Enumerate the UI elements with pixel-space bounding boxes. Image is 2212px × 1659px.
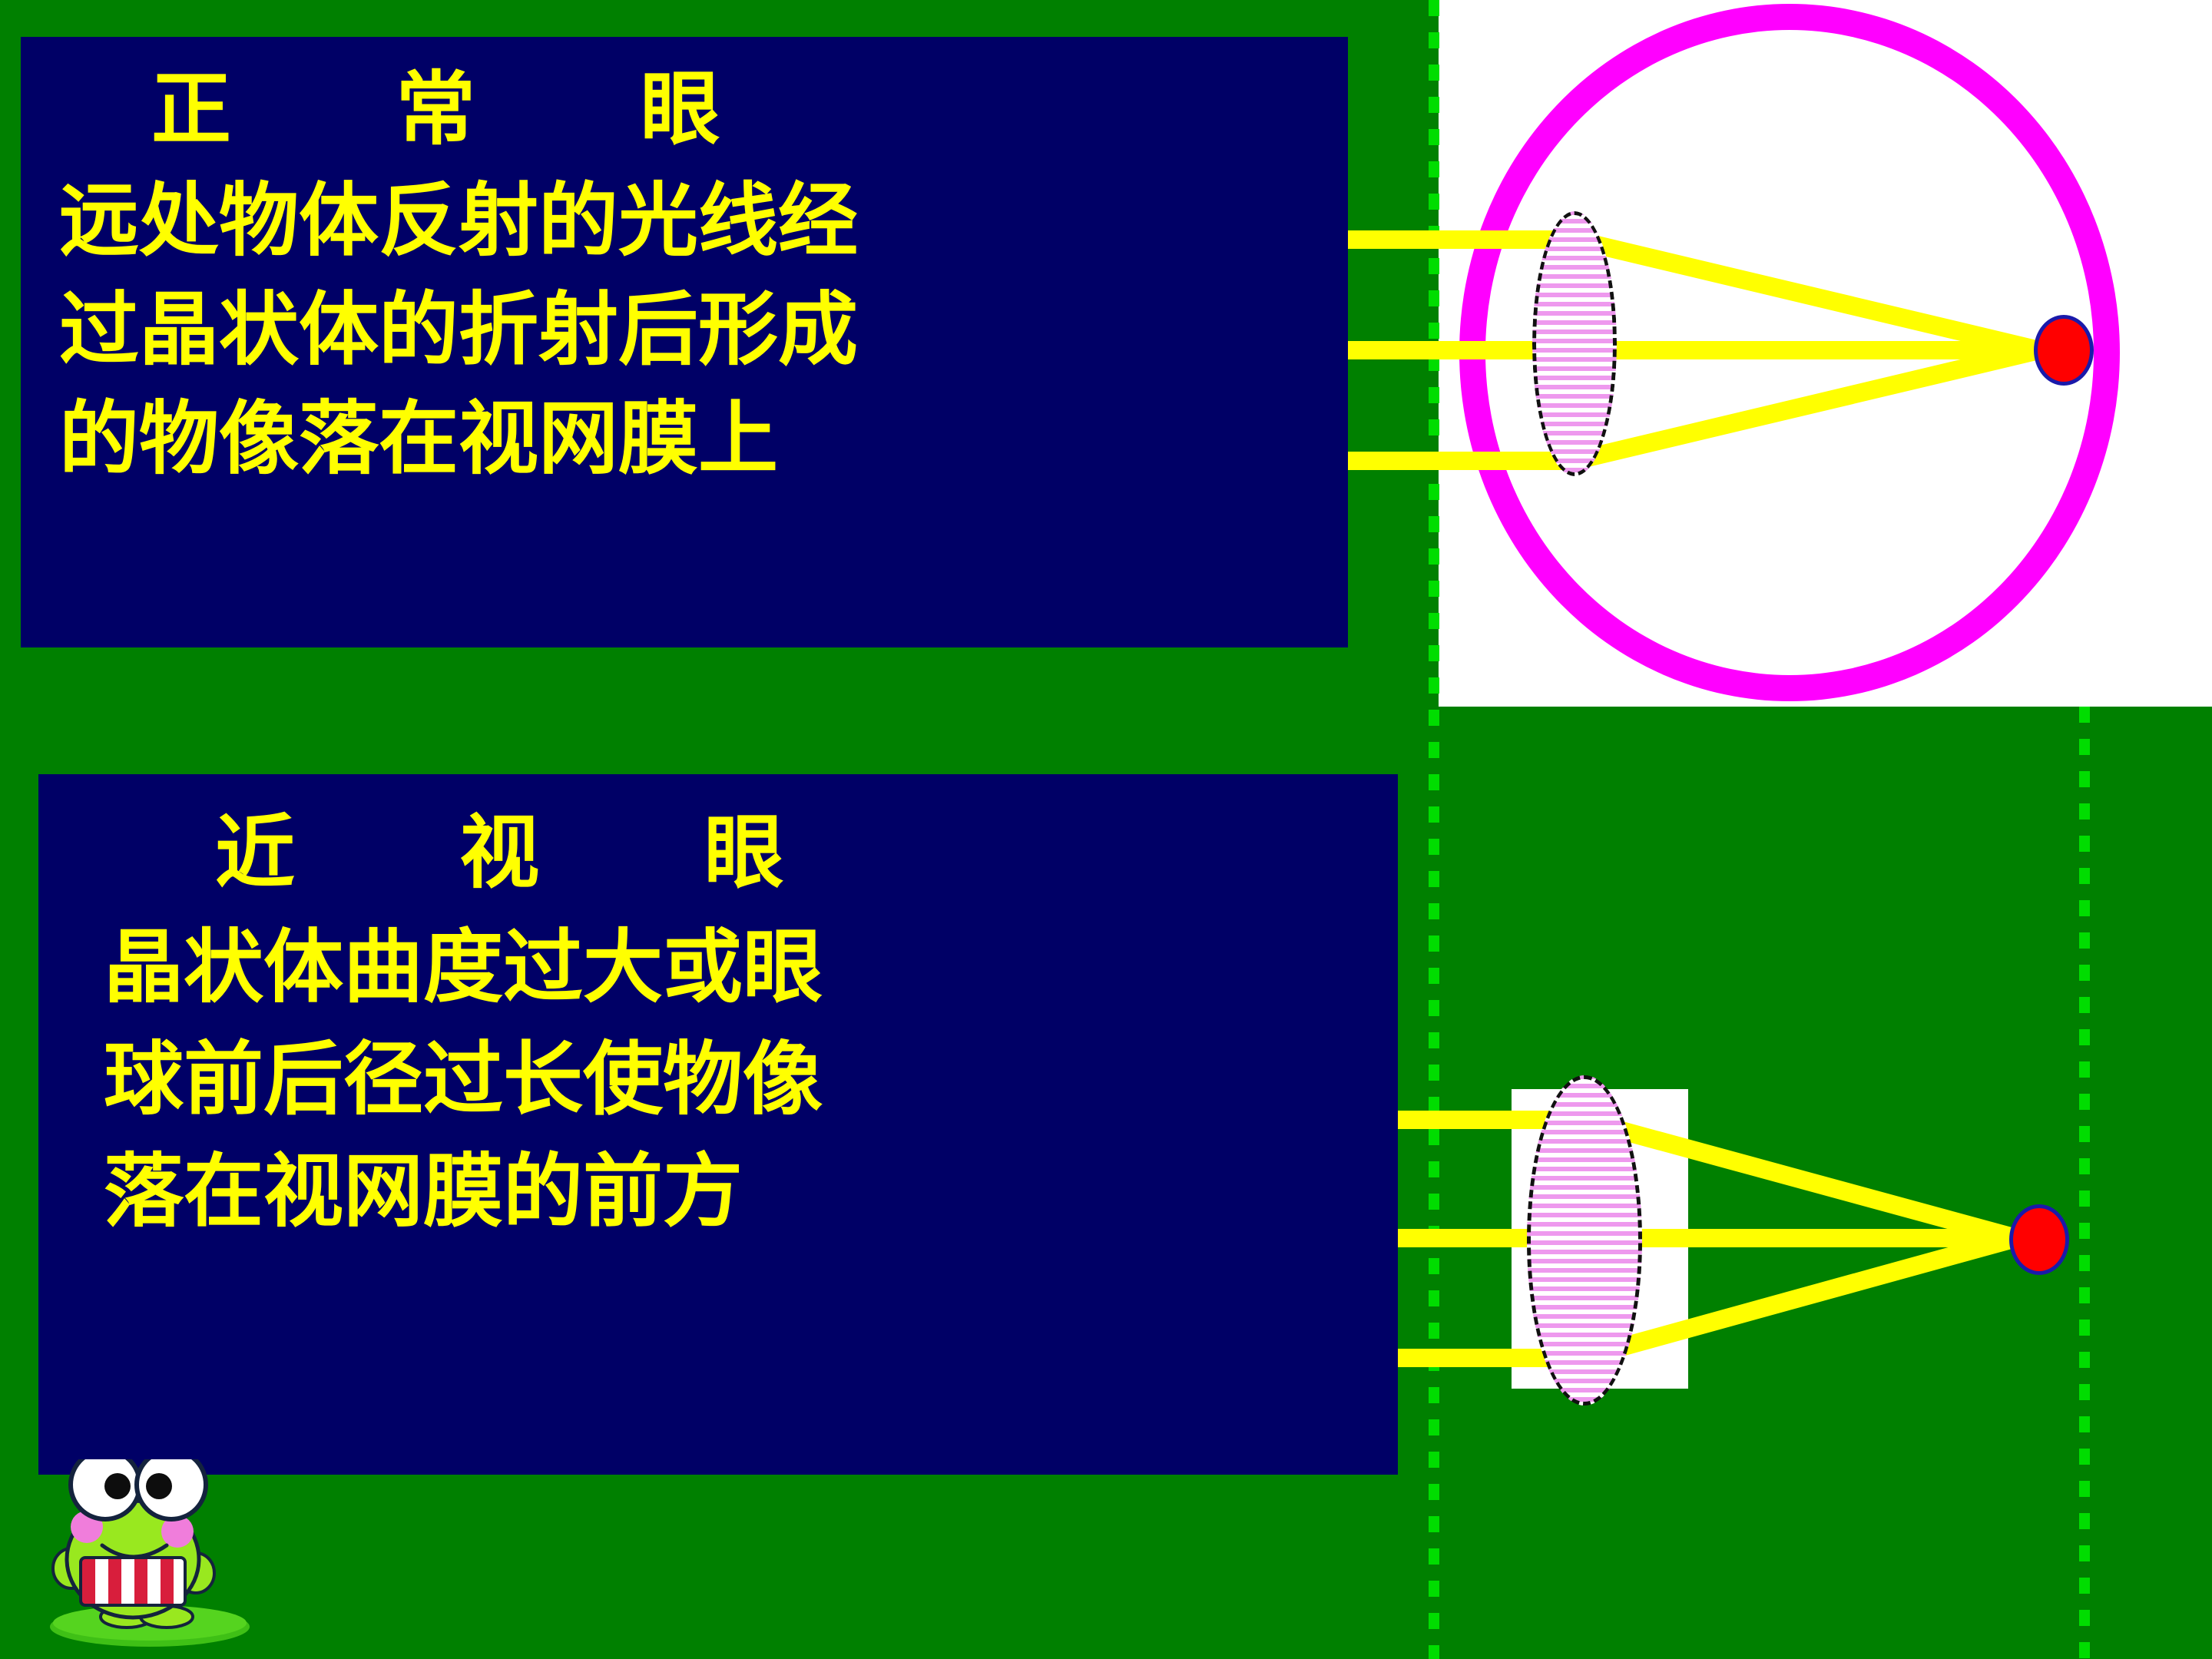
slide-canvas: 正 常 眼 远处物体反射的光线经 过晶状体的折射后形成 的物像落在视网膜上 近 … — [0, 0, 2212, 1659]
myopia-line-2: 球前后径过长使物像 — [38, 1007, 1398, 1119]
frog-mascot — [35, 1459, 288, 1655]
frog-pupil-right — [146, 1473, 172, 1499]
dotted-guide-line-left — [1429, 0, 1439, 1659]
crystalline-lens-myopia — [1527, 1075, 1642, 1406]
myopia-text-box: 近 视 眼 晶状体曲度过大或眼 球前后径过长使物像 落在视网膜的前方 — [38, 774, 1398, 1475]
frog-pupil-left — [104, 1473, 131, 1499]
normal-eye-heading: 正 常 眼 — [21, 37, 1348, 151]
normal-eye-line-2: 过晶状体的折射后形成 — [21, 260, 1348, 369]
normal-eye-line-1: 远处物体反射的光线经 — [21, 151, 1348, 260]
myopia-heading: 近 视 眼 — [38, 774, 1398, 895]
crystalline-lens-normal — [1532, 211, 1617, 476]
dotted-guide-line-right — [2079, 707, 2090, 1659]
normal-eye-line-3: 的物像落在视网膜上 — [21, 369, 1348, 478]
retina-image-point — [2034, 315, 2094, 386]
myopia-line-1: 晶状体曲度过大或眼 — [38, 895, 1398, 1007]
myopia-line-3: 落在视网膜的前方 — [38, 1119, 1398, 1231]
normal-eye-text-box: 正 常 眼 远处物体反射的光线经 过晶状体的折射后形成 的物像落在视网膜上 — [21, 37, 1348, 647]
frog-shorts — [81, 1558, 185, 1605]
image-point-in-front-of-retina — [2009, 1204, 2069, 1275]
